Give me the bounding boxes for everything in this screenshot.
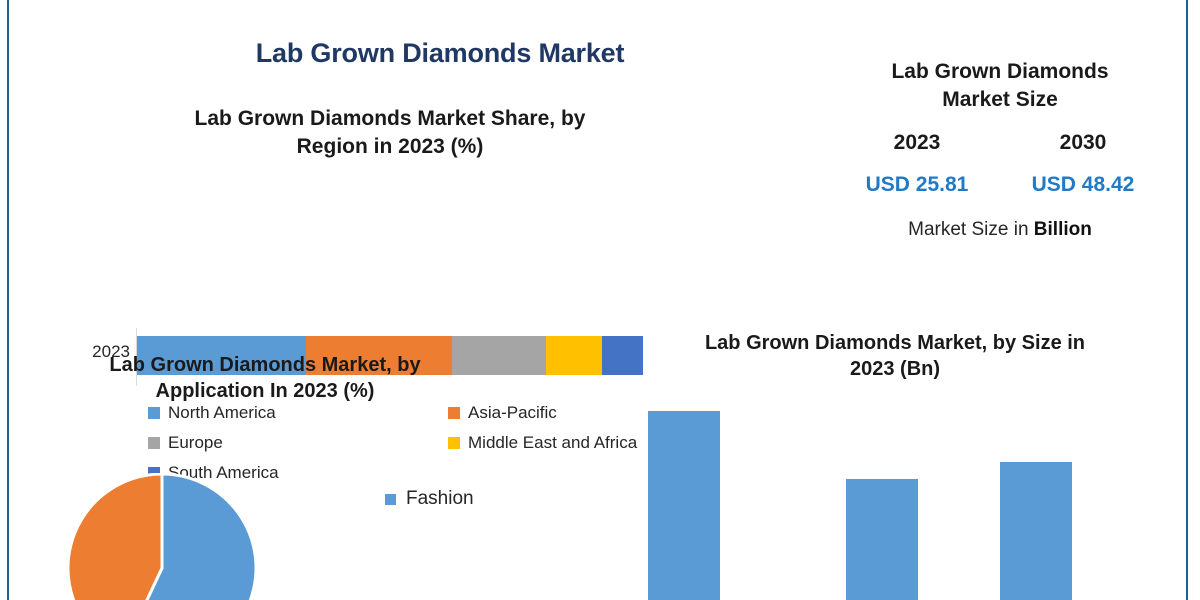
region-legend-swatch-asia-pacific (448, 407, 460, 419)
region-share-title-line1: Lab Grown Diamonds Market Share, by (195, 107, 586, 130)
region-share-segment-south-america (602, 336, 643, 375)
market-size-year-row: 2023 2030 (830, 131, 1170, 155)
region-legend-swatch-europe (148, 437, 160, 449)
region-legend-label-europe: Europe (168, 433, 223, 453)
region-legend-swatch-middle-east-and-africa (448, 437, 460, 449)
size-segment-bar-2 (846, 479, 918, 600)
market-size-value-row: USD 25.81 USD 48.42 (830, 173, 1170, 197)
region-legend-swatch-north-america (148, 407, 160, 419)
size-segment-column-chart (620, 395, 1180, 600)
region-share-segment-middle-east-and-africa (546, 336, 602, 375)
application-title-line2: Application In 2023 (%) (156, 380, 375, 402)
market-size-panel: Lab Grown Diamonds Market Size 2023 2030… (830, 58, 1170, 241)
region-share-chart: 2023 North AmericaAsia-PacificEuropeMidd… (0, 150, 700, 340)
market-size-year-forecast: 2030 (1018, 131, 1148, 155)
market-size-year-base: 2023 (852, 131, 982, 155)
size-segment-bar-1 (648, 411, 720, 600)
region-legend-item-north-america[interactable]: North America (148, 403, 448, 423)
application-legend: Fashion (385, 488, 474, 510)
application-legend-label-fashion: Fashion (406, 488, 474, 510)
size-segment-title-line2: 2023 (Bn) (850, 358, 940, 380)
application-title-line1: Lab Grown Diamonds Market, by (109, 354, 420, 376)
size-segment-chart-title: Lab Grown Diamonds Market, by Size in 20… (640, 330, 1150, 383)
application-pie-svg (67, 473, 257, 600)
infographic-canvas: Lab Grown Diamonds Market Lab Grown Diam… (0, 0, 1200, 600)
market-size-value-forecast: USD 48.42 (1018, 173, 1148, 197)
application-legend-swatch-fashion (385, 494, 396, 505)
size-segment-title-line1: Lab Grown Diamonds Market, by Size in (705, 332, 1085, 354)
market-size-heading: Lab Grown Diamonds Market Size (830, 58, 1170, 115)
application-pie-chart (67, 473, 257, 600)
market-size-units-prefix: Market Size in (908, 219, 1034, 240)
size-segment-bar-3 (1000, 462, 1072, 600)
market-size-value-base: USD 25.81 (852, 173, 982, 197)
application-chart-title: Lab Grown Diamonds Market, by Applicatio… (30, 352, 500, 405)
region-legend-label-north-america: North America (168, 403, 276, 423)
market-size-heading-line1: Lab Grown Diamonds (891, 60, 1108, 83)
application-pie-slice-segment-2 (68, 474, 162, 600)
page-title: Lab Grown Diamonds Market (120, 38, 760, 69)
market-size-units-emphasis: Billion (1034, 219, 1092, 240)
right-border-rule (1186, 0, 1188, 600)
region-legend-label-asia-pacific: Asia-Pacific (468, 403, 557, 423)
market-size-heading-line2: Market Size (942, 88, 1058, 111)
market-size-units-note: Market Size in Billion (830, 219, 1170, 241)
region-legend-item-europe[interactable]: Europe (148, 433, 448, 453)
region-legend-label-middle-east-and-africa: Middle East and Africa (468, 433, 637, 453)
